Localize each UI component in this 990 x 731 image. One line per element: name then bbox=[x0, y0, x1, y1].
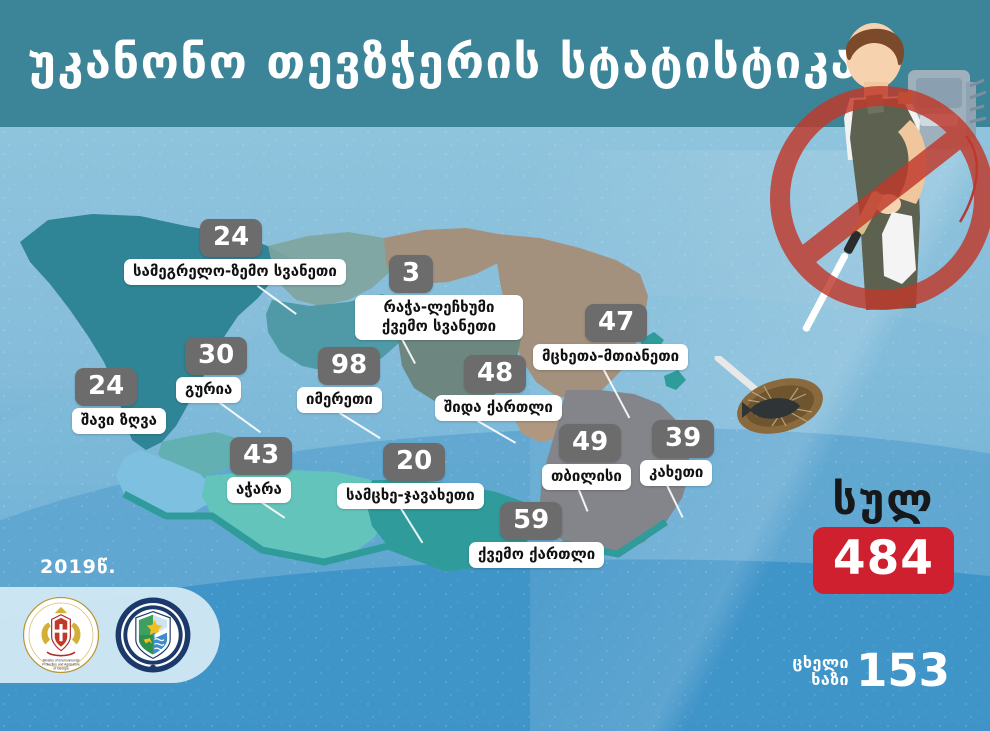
year-label: 2019წ. bbox=[40, 556, 117, 578]
region-name-label: სამეგრელო-ზემო სვანეთი bbox=[124, 259, 346, 285]
region-name-label: ქვემო ქართლი bbox=[469, 542, 604, 568]
infographic-root: უკანონო თევზჭერის სტატისტიკა 24შავი ზღვა… bbox=[0, 0, 990, 731]
map-label-mtskheta: 47მცხეთა-მთიანეთი bbox=[533, 304, 688, 370]
region-name-label: აჭარა bbox=[227, 477, 291, 503]
map-label-tbilisi: 49თბილისი bbox=[542, 424, 631, 490]
map-label-kvemo-kartli: 59ქვემო ქართლი bbox=[469, 502, 604, 568]
region-count-badge: 24 bbox=[75, 368, 137, 406]
hotline-block: ცხელი ხაზი 153 bbox=[792, 648, 950, 693]
region-count-badge: 39 bbox=[652, 420, 714, 458]
region-count-badge: 59 bbox=[500, 502, 562, 540]
total-value: 484 bbox=[813, 527, 954, 594]
hotline-label-line1: ცხელი bbox=[792, 654, 849, 671]
hotline-label-line2: ხაზი bbox=[792, 671, 849, 688]
illegal-fishing-illustration bbox=[770, 8, 990, 338]
region-count-badge: 3 bbox=[389, 255, 433, 293]
person-boot bbox=[882, 212, 916, 284]
supervision-emblem-icon bbox=[114, 596, 192, 674]
region-name-label: თბილისი bbox=[542, 464, 631, 490]
region-count-badge: 48 bbox=[464, 355, 526, 393]
total-block: სულ 484 bbox=[813, 478, 954, 594]
region-count-badge: 49 bbox=[559, 424, 621, 462]
map-label-guria: 30გურია bbox=[176, 337, 247, 403]
region-name-label: იმერეთი bbox=[297, 387, 382, 413]
region-count-badge: 30 bbox=[185, 337, 247, 375]
total-label: სულ bbox=[813, 478, 954, 522]
region-name-label: შავი ზღვა bbox=[72, 408, 166, 434]
region-name-label: შიდა ქართლი bbox=[435, 395, 562, 421]
map-label-kakheti: 39კახეთი bbox=[640, 420, 714, 486]
region-count-badge: 24 bbox=[200, 219, 262, 257]
map-label-black-sea: 24შავი ზღვა bbox=[72, 368, 166, 434]
region-count-badge: 20 bbox=[383, 443, 445, 481]
map-label-racha: 3რაჭა-ლეჩხუმი ქვემო სვანეთი bbox=[355, 255, 523, 340]
region-name-label: კახეთი bbox=[640, 460, 712, 486]
map-label-samtskhe: 20სამცხე-ჯავახეთი bbox=[337, 443, 484, 509]
hotline-number: 153 bbox=[856, 648, 950, 693]
region-count-badge: 98 bbox=[318, 347, 380, 385]
region-name-label: სამცხე-ჯავახეთი bbox=[337, 483, 484, 509]
map-label-imereti: 98იმერეთი bbox=[297, 347, 382, 413]
region-count-badge: 43 bbox=[230, 437, 292, 475]
fishing-net-with-fish-icon bbox=[712, 356, 832, 446]
region-name-label: რაჭა-ლეჩხუმი ქვემო სვანეთი bbox=[355, 295, 523, 340]
page-title: უკანონო თევზჭერის სტატისტიკა bbox=[28, 30, 858, 96]
region-name-label: გურია bbox=[176, 377, 241, 403]
svg-text:of Georgia: of Georgia bbox=[53, 666, 68, 670]
ministry-emblem-icon: Ministry of Environmental Protection and… bbox=[22, 596, 100, 674]
map-label-samegrelo: 24სამეგრელო-ზემო სვანეთი bbox=[124, 219, 346, 285]
region-count-badge: 47 bbox=[585, 304, 647, 342]
logo-group: Ministry of Environmental Protection and… bbox=[22, 596, 192, 674]
map-label-adjara: 43აჭარა bbox=[227, 437, 292, 503]
region-name-label: მცხეთა-მთიანეთი bbox=[533, 344, 688, 370]
hotline-label: ცხელი ხაზი bbox=[792, 654, 849, 688]
